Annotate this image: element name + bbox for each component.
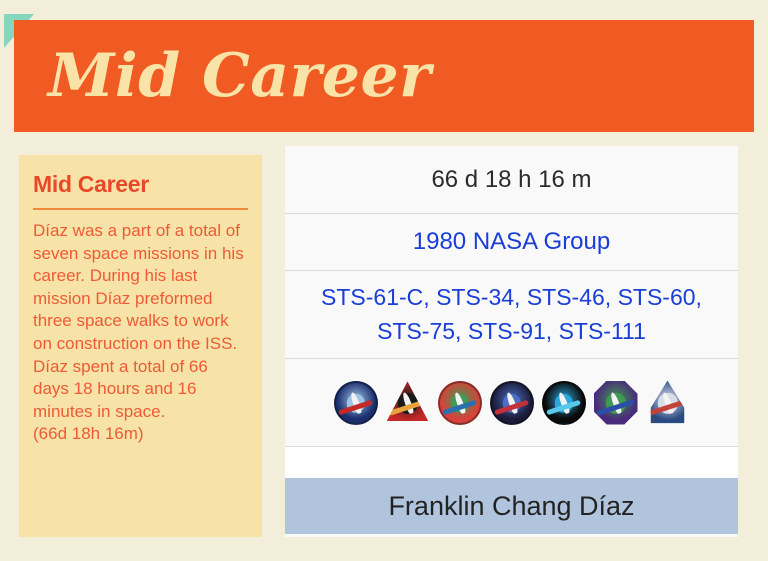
selection-group-link[interactable]: 1980 NASA Group — [413, 228, 610, 256]
info-panel: 66 d 18 h 16 m 1980 NASA Group STS-61-C,… — [285, 146, 738, 537]
corner-fold-decoration — [28, 40, 56, 70]
mission-patch-sts-75-icon[interactable] — [542, 381, 586, 425]
mission-patch-sts-34-icon[interactable] — [386, 381, 430, 425]
duration-row: 66 d 18 h 16 m — [285, 146, 738, 214]
missions-line-1[interactable]: STS-61-C, STS-34, STS-46, STS-60, — [321, 281, 702, 314]
sidebar-paragraph-duration: (66d 18h 16m) — [33, 423, 248, 446]
astronaut-name: Franklin Chang Díaz — [388, 491, 634, 522]
astronaut-name-row: Franklin Chang Díaz — [285, 478, 738, 534]
mission-patch-sts-61-c-icon[interactable] — [334, 381, 378, 425]
mission-patch-sts-91-icon[interactable] — [594, 381, 638, 425]
mission-patch-sts-60-icon[interactable] — [490, 381, 534, 425]
sidebar-heading: Mid Career — [33, 171, 262, 198]
mission-patches-row — [285, 359, 738, 447]
sidebar-body-text: Díaz was a part of a total of seven spac… — [33, 220, 248, 446]
page-title: Mid Career — [48, 46, 431, 106]
duration-value: 66 d 18 h 16 m — [431, 166, 591, 194]
header-banner: Mid Career — [14, 20, 754, 132]
sidebar-divider — [33, 208, 248, 210]
mission-patch-sts-46-icon[interactable] — [438, 381, 482, 425]
sidebar-paragraph-main: Díaz was a part of a total of seven spac… — [33, 220, 248, 423]
spacer-row — [285, 447, 738, 478]
selection-group-row: 1980 NASA Group — [285, 214, 738, 271]
mission-patch-sts-111-icon[interactable] — [646, 381, 690, 425]
sidebar-card: Mid Career Díaz was a part of a total of… — [19, 155, 262, 537]
missions-line-2[interactable]: STS-75, STS-91, STS-111 — [321, 315, 702, 348]
missions-row: STS-61-C, STS-34, STS-46, STS-60, STS-75… — [285, 271, 738, 359]
